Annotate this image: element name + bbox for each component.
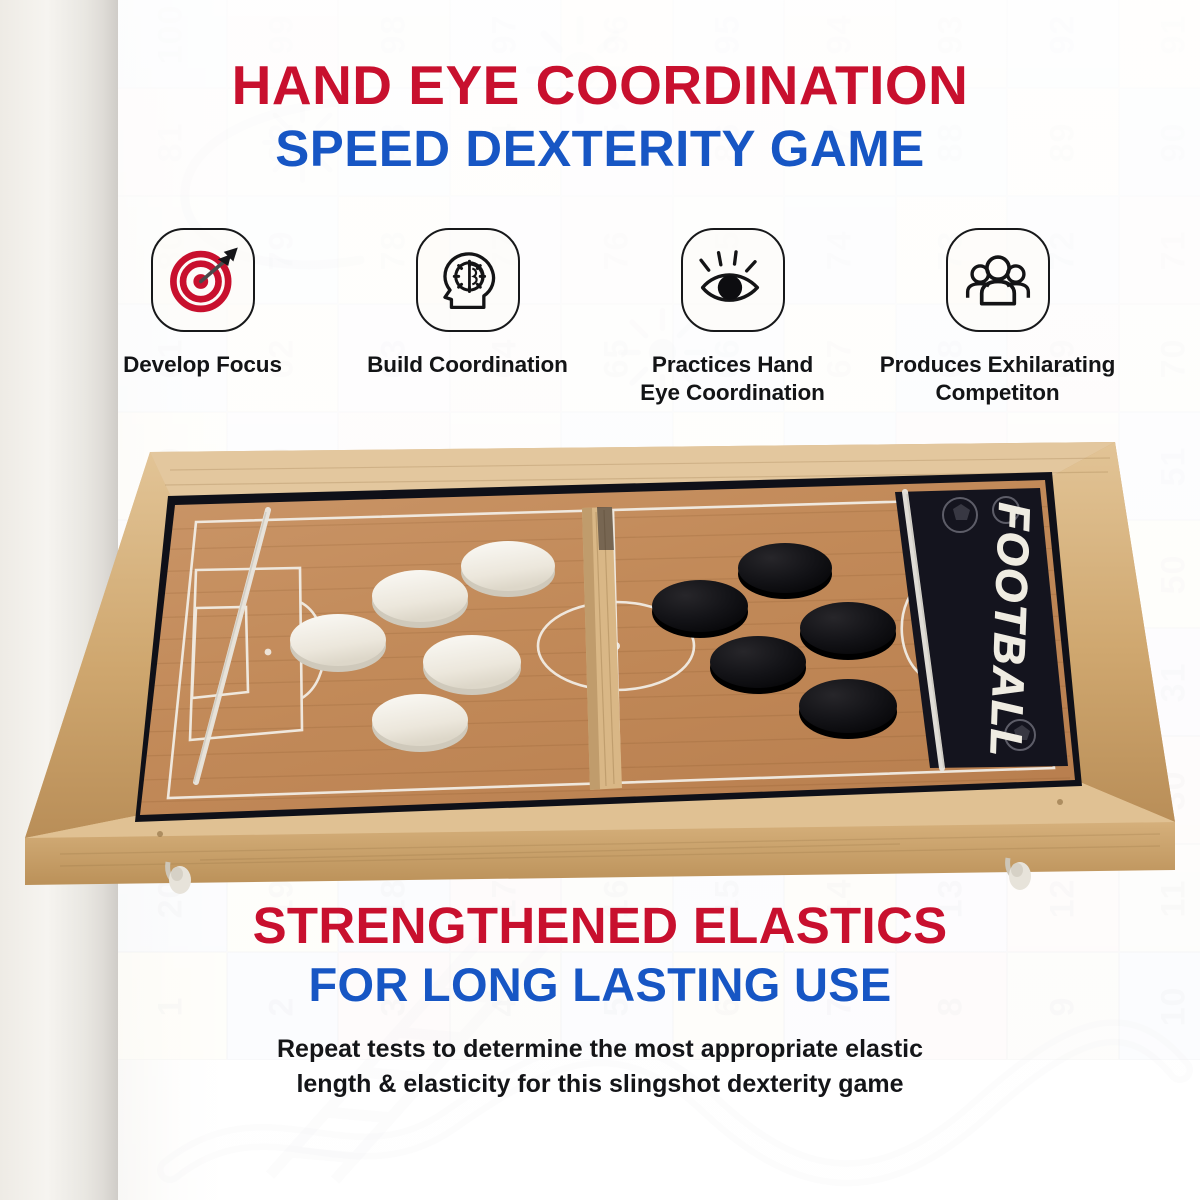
eye-icon xyxy=(695,242,771,318)
feature-label-1: Develop Focus xyxy=(70,351,335,379)
board-brand-text: FOOTBALL xyxy=(981,502,1039,759)
feature-badge-2 xyxy=(416,228,520,332)
dartboard-target-icon xyxy=(166,243,240,317)
bottom-description: Repeat tests to determine the most appro… xyxy=(0,1032,1200,1103)
feature-label-3-line-2: Eye Coordination xyxy=(600,379,865,407)
feature-label-2-line-1: Build Coordination xyxy=(335,351,600,379)
bottom-description-line-2: length & elasticity for this slingshot d… xyxy=(0,1067,1200,1103)
feature-label-1-line-1: Develop Focus xyxy=(70,351,335,379)
feature-row: Develop Focus Build Coordination xyxy=(0,228,1200,408)
slingshot-football-board-game-illustration: FOOTBALL xyxy=(0,430,1200,900)
feature-label-4: Produces Exhilarating Competiton xyxy=(865,351,1130,408)
headline-block: HAND EYE COORDINATION SPEED DEXTERITY GA… xyxy=(0,56,1200,177)
headline-line-2: SPEED DEXTERITY GAME xyxy=(0,120,1200,177)
feature-label-3-line-1: Practices Hand xyxy=(600,351,865,379)
feature-label-4-line-1: Produces Exhilarating xyxy=(865,351,1130,379)
feature-badge-4 xyxy=(946,228,1050,332)
headline-line-1: HAND EYE COORDINATION xyxy=(0,56,1200,114)
feature-item-develop-focus: Develop Focus xyxy=(70,228,335,379)
feature-item-produces-competition: Produces Exhilarating Competiton xyxy=(865,228,1130,408)
feature-badge-1 xyxy=(151,228,255,332)
bottom-line-2: FOR LONG LASTING USE xyxy=(0,959,1200,1012)
feature-label-3: Practices Hand Eye Coordination xyxy=(600,351,865,408)
bottom-text-block: STRENGTHENED ELASTICS FOR LONG LASTING U… xyxy=(0,898,1200,1103)
feature-label-2: Build Coordination xyxy=(335,351,600,379)
feature-label-4-line-2: Competiton xyxy=(865,379,1130,407)
feature-item-practices-hand-eye: Practices Hand Eye Coordination xyxy=(600,228,865,408)
bottom-line-1: STRENGTHENED ELASTICS xyxy=(0,898,1200,953)
feature-item-build-coordination: Build Coordination xyxy=(335,228,600,379)
people-group-icon xyxy=(961,243,1035,317)
head-brain-gear-icon xyxy=(432,244,504,316)
bottom-description-line-1: Repeat tests to determine the most appro… xyxy=(0,1032,1200,1068)
product-photo: FOOTBALL xyxy=(0,430,1200,900)
feature-badge-3 xyxy=(681,228,785,332)
